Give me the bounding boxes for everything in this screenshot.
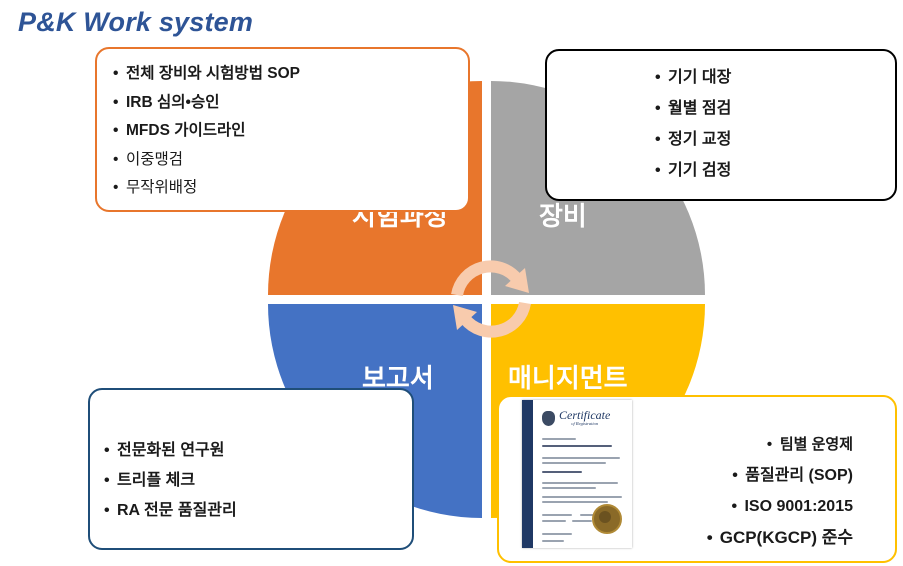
certificate-text-line bbox=[542, 501, 608, 503]
bullet-icon: • bbox=[113, 117, 126, 146]
callout-process: •전체 장비와 시험방법 SOP •IRB 심의•승인 •MFDS 가이드라인 … bbox=[95, 47, 470, 212]
certificate-text-line bbox=[542, 540, 564, 542]
certificate-text-line bbox=[542, 520, 566, 522]
list-item-label: ISO 9001:2015 bbox=[744, 498, 853, 515]
list-item-label: IRB 심의•승인 bbox=[126, 94, 219, 111]
certificate-text-line bbox=[572, 520, 592, 522]
wheel-label-manage: 매니지먼트 bbox=[508, 358, 628, 395]
callout-report: •전문화된 연구원 •트리플 체크 •RA 전문 품질관리 bbox=[88, 388, 414, 550]
certificate-text-line bbox=[542, 445, 612, 447]
crest-icon bbox=[542, 411, 555, 426]
list-item-label: 전문화된 연구원 bbox=[117, 442, 225, 459]
list-item: •전문화된 연구원 bbox=[104, 436, 412, 466]
certificate-text-line bbox=[542, 487, 596, 489]
list-item: •MFDS 가이드라인 bbox=[113, 117, 468, 146]
list-item-label: 정기 교정 bbox=[668, 131, 731, 148]
certificate-text-line bbox=[542, 462, 606, 464]
list-item: •트리플 체크 bbox=[104, 466, 412, 496]
bullet-icon: • bbox=[655, 62, 668, 93]
callout-process-list: •전체 장비와 시험방법 SOP •IRB 심의•승인 •MFDS 가이드라인 … bbox=[97, 49, 468, 203]
callout-device: •기기 대장 •월별 점검 •정기 교정 •기기 검정 bbox=[545, 49, 897, 201]
list-item: •IRB 심의•승인 bbox=[113, 89, 468, 118]
bullet-icon: • bbox=[731, 491, 744, 522]
list-item-label: 품질관리 (SOP) bbox=[745, 467, 853, 484]
certificate-heading: Certificate bbox=[559, 410, 610, 421]
list-item-label: 팀별 운영제 bbox=[780, 436, 853, 453]
bullet-icon: • bbox=[113, 60, 126, 89]
certificate-text-line bbox=[542, 496, 622, 498]
bullet-icon: • bbox=[655, 124, 668, 155]
bullet-icon: • bbox=[655, 155, 668, 186]
list-item-label: 이중맹검 bbox=[126, 151, 183, 168]
list-item-label: 트리플 체크 bbox=[117, 472, 195, 489]
bullet-icon: • bbox=[113, 146, 126, 175]
list-item-label: MFDS 가이드라인 bbox=[126, 122, 246, 139]
certificate-text-line bbox=[542, 438, 576, 440]
certificate-seal-icon bbox=[592, 504, 622, 534]
certificate-text-line bbox=[542, 482, 618, 484]
bullet-icon: • bbox=[113, 89, 126, 118]
list-item: •이중맹검 bbox=[113, 146, 468, 175]
list-item-label: GCP(KGCP) 준수 bbox=[720, 528, 853, 547]
list-item: •월별 점검 bbox=[655, 93, 895, 124]
bullet-icon: • bbox=[113, 174, 126, 203]
certificate-stripe bbox=[522, 400, 533, 548]
list-item-label: RA 전문 품질관리 bbox=[117, 502, 237, 519]
page-title: P&K Work system bbox=[18, 7, 253, 38]
list-item-label: 월별 점검 bbox=[668, 100, 731, 117]
bullet-icon: • bbox=[104, 466, 117, 496]
list-item-label: 기기 대장 bbox=[668, 69, 731, 86]
bullet-icon: • bbox=[732, 460, 745, 491]
list-item: •RA 전문 품질관리 bbox=[104, 496, 412, 526]
bullet-icon: • bbox=[707, 522, 720, 553]
list-item-label: 무작위배정 bbox=[126, 179, 197, 196]
callout-device-list: •기기 대장 •월별 점검 •정기 교정 •기기 검정 bbox=[547, 51, 895, 186]
bullet-icon: • bbox=[655, 93, 668, 124]
list-item-label: 전체 장비와 시험방법 SOP bbox=[126, 65, 300, 82]
certificate-text-line bbox=[542, 514, 572, 516]
list-item: •무작위배정 bbox=[113, 174, 468, 203]
list-item: •정기 교정 bbox=[655, 124, 895, 155]
certificate-text-line bbox=[542, 471, 582, 473]
iso-certificate-image: Certificate of Registration bbox=[522, 400, 632, 548]
certificate-header: Certificate of Registration bbox=[542, 410, 626, 426]
certificate-text-line bbox=[542, 457, 620, 459]
callout-report-list: •전문화된 연구원 •트리플 체크 •RA 전문 품질관리 bbox=[90, 390, 412, 526]
bullet-icon: • bbox=[104, 496, 117, 526]
certificate-text-line bbox=[542, 533, 572, 535]
list-item-label: 기기 검정 bbox=[668, 162, 731, 179]
bullet-icon: • bbox=[104, 436, 117, 466]
list-item: •기기 대장 bbox=[655, 62, 895, 93]
list-item: •전체 장비와 시험방법 SOP bbox=[113, 60, 468, 89]
bullet-icon: • bbox=[767, 429, 780, 460]
wheel-label-device: 장비 bbox=[539, 196, 587, 233]
list-item: •기기 검정 bbox=[655, 155, 895, 186]
